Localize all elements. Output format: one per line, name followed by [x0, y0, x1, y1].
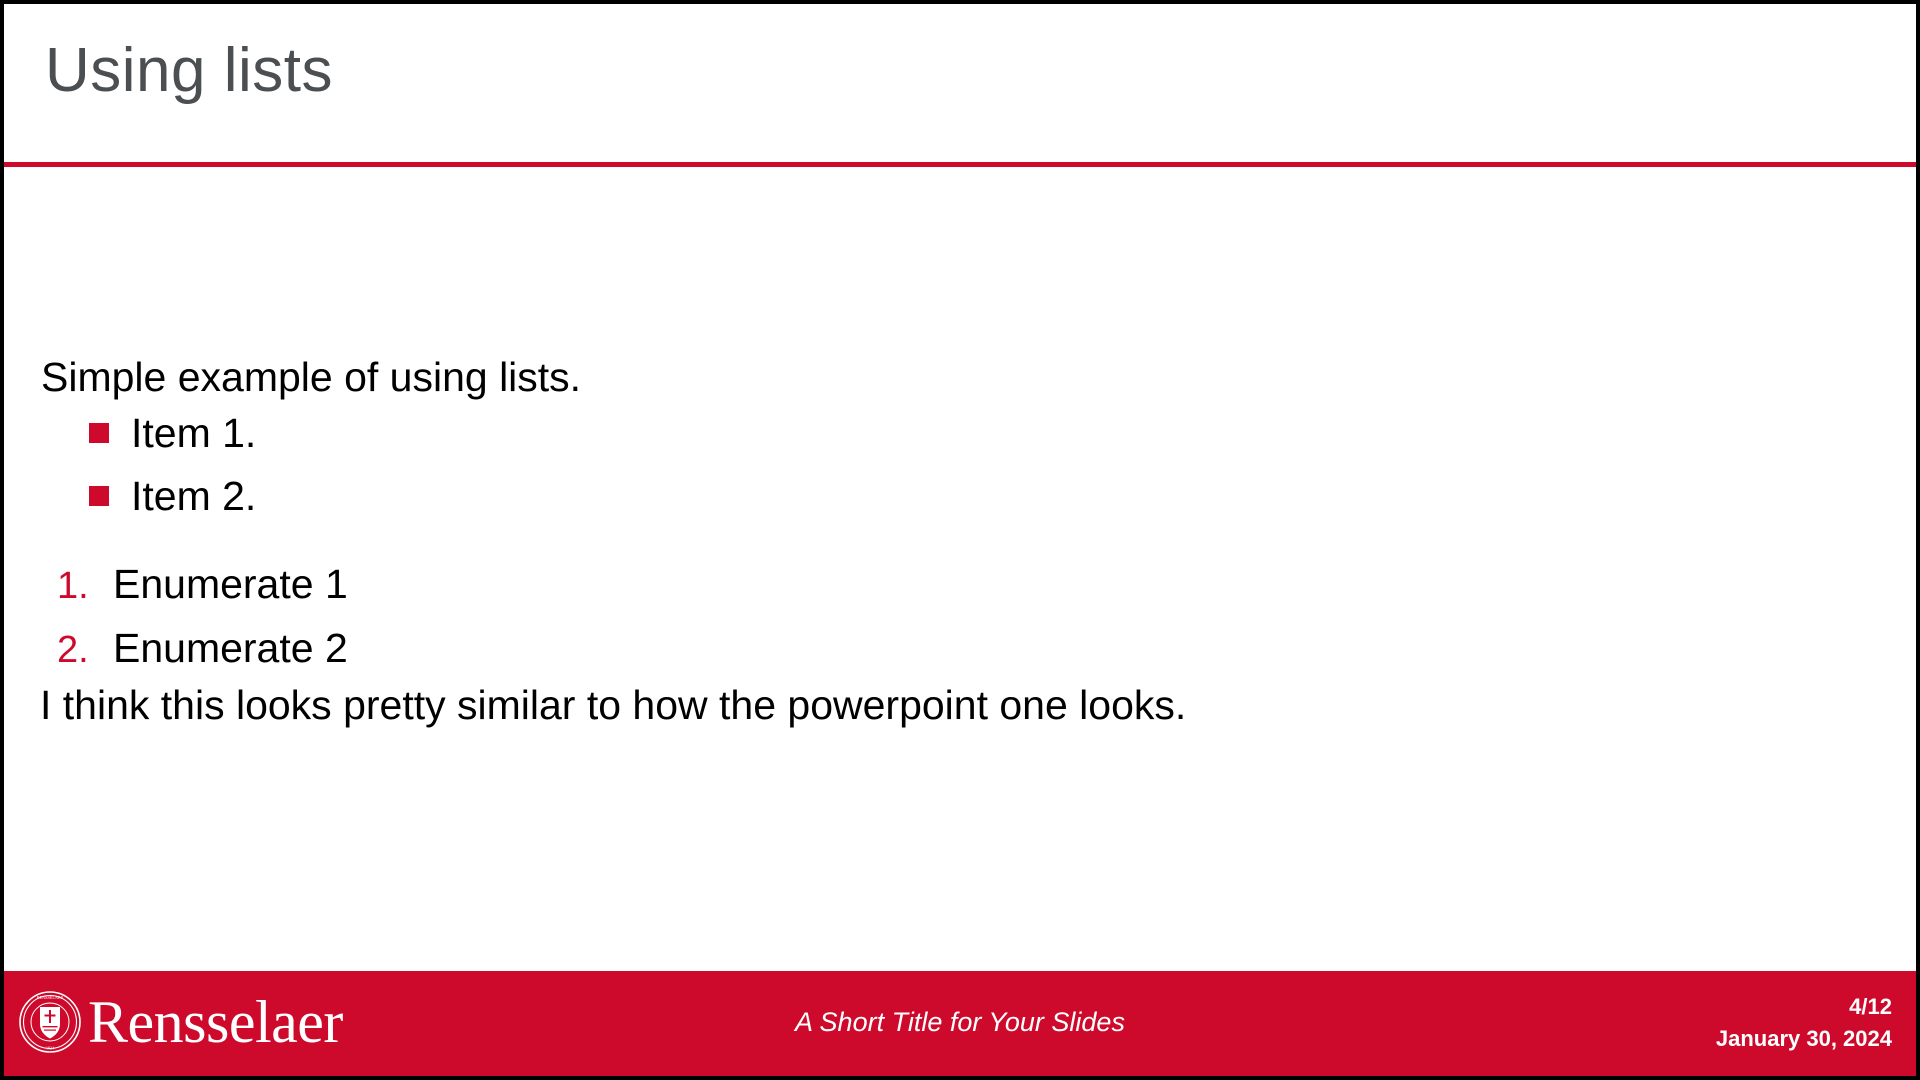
closing-paragraph: I think this looks pretty similar to how…	[40, 685, 1186, 726]
list-item: Item 2.	[41, 474, 256, 518]
square-bullet-icon	[89, 486, 109, 506]
slide-title-area: Using lists	[4, 4, 1916, 162]
presentation-slide: Using lists Simple example of using list…	[0, 0, 1920, 1080]
list-item-label: Item 2.	[131, 476, 256, 517]
list-item: Item 1.	[41, 411, 256, 455]
enumerated-item-marker: 2.	[57, 631, 113, 669]
enumerated-item: 1. Enumerate 1	[41, 564, 348, 610]
page-title: Using lists	[45, 40, 333, 102]
svg-text:1824: 1824	[46, 1046, 55, 1051]
slide-body: Simple example of using lists. Item 1. I…	[4, 167, 1916, 972]
enumerated-item-marker: 1.	[57, 567, 113, 605]
slide-footer: RENSSELAER 1824 Rensselaer A Short Title…	[4, 971, 1916, 1076]
enumerated-item-label: Enumerate 1	[113, 564, 348, 605]
enumerated-item: 2. Enumerate 2	[41, 628, 348, 674]
enumerated-item-label: Enumerate 2	[113, 628, 348, 669]
square-bullet-icon	[89, 423, 109, 443]
footer-meta: 4/12 January 30, 2024	[1716, 991, 1892, 1055]
svg-text:RENSSELAER: RENSSELAER	[37, 995, 64, 1000]
presentation-date: January 30, 2024	[1716, 1023, 1892, 1055]
page-number: 4/12	[1716, 991, 1892, 1023]
list-item-label: Item 1.	[131, 413, 256, 454]
lead-paragraph: Simple example of using lists.	[41, 357, 581, 398]
footer-short-title: A Short Title for Your Slides	[4, 1007, 1916, 1038]
